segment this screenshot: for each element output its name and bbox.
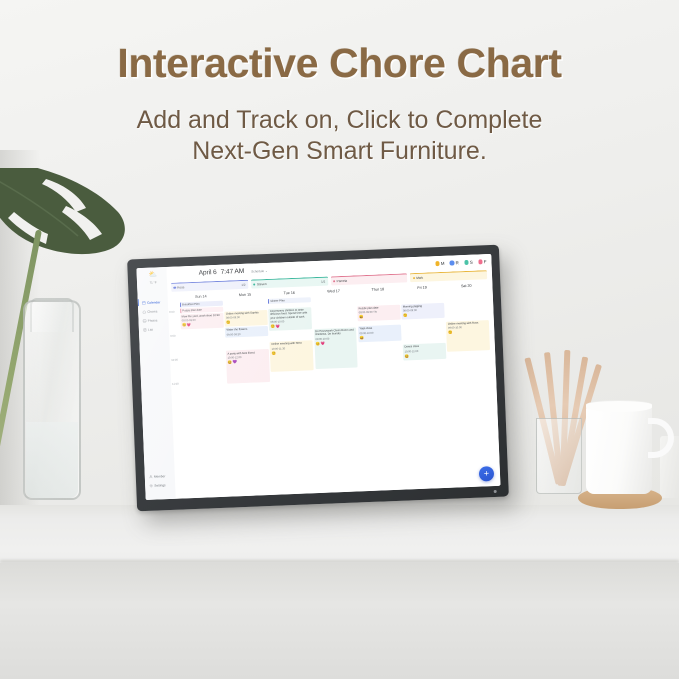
event-emojis: 😊 (403, 312, 443, 318)
monstera-leaf (0, 168, 140, 298)
sidebar-label-photos: Photos (148, 318, 158, 322)
sidebar-item-list[interactable]: List (139, 325, 169, 335)
sidebar-label-settings: Settings (154, 484, 165, 488)
avatar-initial: S (470, 260, 473, 265)
member-name: Mark (416, 275, 423, 279)
event-emojis: 😄💜 (228, 359, 268, 365)
member-count: 1/2 (321, 279, 325, 283)
white-mug (586, 404, 652, 494)
event-card[interactable]: Yoga class 09:00-10:00 😄 (358, 325, 401, 342)
event-emojis: 😄 (405, 353, 445, 359)
member-icon (148, 475, 152, 479)
event-emojis: 😄 (359, 314, 399, 320)
day-column-thur[interactable]: Puzzle plan date 08:00-09:00 Thr 😄 Yoga … (356, 293, 408, 491)
sidebar-item-settings[interactable]: Settings (145, 481, 175, 491)
pencil-cup (536, 418, 582, 494)
event-card[interactable]: Online meeting with Sophia 08:00-09:00 😊 (224, 310, 267, 327)
product-lifestyle-photo: Interactive Chore Chart Add and Track on… (0, 0, 679, 679)
event-card[interactable]: Online meeting with Ross 10:00-11:30 😊 (270, 340, 314, 372)
day-column-fri[interactable]: Morning jogging 08:00-09:00 😊 Dance clas… (400, 291, 452, 489)
day-column-tue[interactable]: Dinner Plan Accompany children to taste … (267, 297, 319, 495)
day-column-mon[interactable]: Online meeting with Sophia 08:00-09:00 😊… (223, 299, 275, 497)
event-emojis: 😊💗 (182, 322, 222, 328)
avatar-r[interactable]: R (450, 260, 459, 265)
event-card[interactable]: Mow the yard, wash shoe 10:30 08:00-09:0… (180, 312, 223, 329)
avatar-dot (464, 260, 468, 264)
camera-dot-icon (494, 490, 497, 493)
mug-rim (586, 400, 652, 412)
event-card[interactable]: Puzzle plan date 08:00-09:00 Thr 😄 (357, 304, 400, 321)
member-card-pamela[interactable]: Pamela (330, 273, 407, 285)
avatar-dot (478, 260, 482, 264)
sidebar-label-chores: Chores (147, 309, 157, 313)
member-card-mark[interactable]: Mark (410, 270, 487, 282)
promo-subline: Add and Track on, Click to Complete Next… (0, 105, 679, 168)
chip-label: Breakfast Plan (182, 302, 200, 306)
schedule-dropdown-label: Schedule (251, 269, 264, 274)
day-column-wed[interactable]: Do Housework Clean Room and Windows, Do … (312, 295, 364, 493)
member-dot (333, 280, 335, 282)
sidebar-label-list: List (148, 328, 153, 332)
event-card[interactable]: Morning jogging 08:00-09:00 😊 (401, 302, 444, 319)
avatar-dot (450, 261, 454, 265)
day-column-sat[interactable]: Online meeting with Ross 09:00-10:00 😊 (444, 290, 496, 488)
day-column-sun[interactable]: Breakfast Plan Puppy plan date Mow the y… (179, 300, 231, 498)
avatar-initial: F (484, 259, 487, 264)
smart-display-tablet[interactable]: Calendar Chores Ph (127, 245, 509, 512)
event-emojis: 😄 (360, 334, 400, 340)
event-emojis: 😊 (448, 329, 488, 335)
chip-label: Puppy plan date (182, 308, 202, 312)
member-name: Rose (177, 285, 184, 289)
member-card-steven[interactable]: Steven 1/2 (251, 277, 328, 289)
event-time: 09:00-09:30 (227, 332, 267, 337)
chip-label: Dinner Plan (271, 299, 285, 303)
table-front (0, 563, 679, 679)
header-time: 7:47 AM (221, 268, 245, 276)
promo-subline-1: Add and Track on, Click to Complete (0, 105, 679, 136)
avatar-initial: R (455, 260, 458, 265)
avatar-s[interactable]: S (464, 260, 473, 265)
event-emojis: 😊 (226, 319, 266, 325)
event-card[interactable]: Accompany children to taste delicious fo… (268, 307, 312, 331)
event-title: Accompany children to taste delicious fo… (270, 308, 310, 320)
list-icon (142, 328, 146, 332)
event-emojis: 😊 (272, 350, 312, 356)
member-name: Pamela (337, 279, 348, 283)
event-card[interactable]: Dance class 10:00-11:00 😄 (403, 343, 446, 360)
event-card[interactable]: Water the flowers 09:00-09:30 (225, 326, 268, 338)
settings-icon (149, 484, 153, 488)
chore-chart-app[interactable]: Calendar Chores Ph (136, 254, 500, 500)
member-dot (174, 286, 176, 288)
calendar-icon (141, 300, 145, 304)
schedule-dropdown[interactable]: Schedule ⌄ (251, 268, 268, 273)
avatar-initial: M (441, 261, 445, 266)
calendar-grid[interactable]: 8:00 9:00 10:00 11:00 Breakfast Plan Pup… (168, 290, 501, 499)
promo-subline-2: Next-Gen Smart Furniture. (0, 136, 679, 167)
photos-icon (142, 319, 146, 323)
event-card[interactable]: Online meeting with Ross 09:00-10:00 😊 (446, 320, 490, 352)
header-date: April 6 (199, 269, 217, 277)
promo-headline: Interactive Chore Chart (0, 40, 679, 87)
sidebar-label-calendar: Calendar (147, 300, 160, 305)
member-dot (413, 277, 415, 279)
avatar-m[interactable]: M (435, 261, 444, 266)
weather-widget: ⛅ 71 °F (141, 271, 165, 284)
event-card[interactable]: Do Housework Clean Room and Windows, Do … (314, 327, 358, 369)
member-dot (253, 283, 255, 285)
member-card-rose[interactable]: Rose 1/2 (171, 280, 248, 292)
member-count: 1/2 (241, 283, 245, 287)
chevron-down-icon: ⌄ (265, 268, 268, 272)
event-emojis: 😊💗 (271, 323, 311, 329)
carafe-water (26, 422, 78, 498)
avatar-f[interactable]: F (478, 259, 486, 264)
event-emojis: 😊💗 (316, 340, 356, 346)
avatar-dot (435, 261, 439, 265)
event-card[interactable]: A party with best friend 10:00-12:00 😄💜 (226, 349, 270, 384)
member-name: Steven (257, 282, 267, 286)
tablet-screen[interactable]: Calendar Chores Ph (136, 254, 500, 500)
sidebar-label-member: Member (154, 474, 166, 478)
app-main: ⛅ 71 °F April 6 7:47 AM Schedule ⌄ (166, 254, 500, 499)
chores-icon (142, 310, 146, 314)
avatar-row: M R S F (435, 259, 486, 266)
